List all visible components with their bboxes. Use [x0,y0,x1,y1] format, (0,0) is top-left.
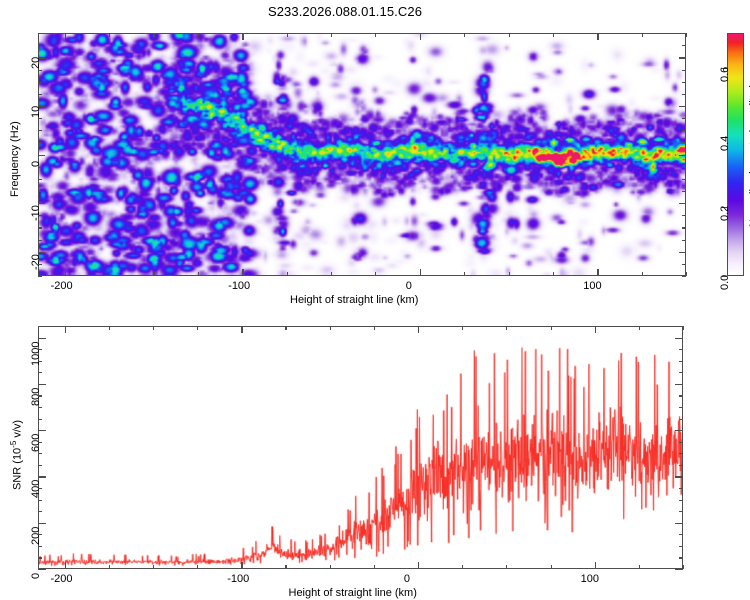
spectrogram-xtick-minor-top [686,33,687,37]
colorbar-tick-label: 0.6 [719,66,731,81]
snr-ytick-minor-right [679,372,683,373]
spectrogram-xtick-label: 0 [406,280,412,292]
spectrogram-ytick-minor [38,130,42,131]
spectrogram-ytick-right [679,106,686,107]
spectrogram-ytick-minor-right [682,215,686,216]
snr-ytick [38,384,46,385]
spectrogram-xtick-minor [331,272,332,276]
spectrogram-ytick-minor-right [682,130,686,131]
spectrogram-ytick-label: -10 [30,205,42,221]
snr-xtick-minor-top [639,326,640,330]
spectrogram-xtick [242,269,243,276]
snr-xtick [595,562,596,569]
spectrogram-xtick-minor-top [642,33,643,37]
snr-panel [38,326,683,569]
colorbar-tick-label: 0.0 [719,275,731,290]
spectrogram-yaxis-label: Frequency (Hz) [9,121,21,197]
snr-ytick-minor-right [679,511,683,512]
snr-xtick-minor [639,565,640,569]
spectrogram-xtick-top [242,33,243,40]
spectrogram-ytick-minor-right [682,94,686,95]
snr-ytick-label: 600 [30,434,42,452]
snr-ytick-minor [38,534,42,535]
spectrogram-ytick-minor-right [682,179,686,180]
spectrogram-ytick-minor-right [682,70,686,71]
spectrogram-xtick-minor [553,272,554,276]
snr-ytick-minor-right [679,442,683,443]
spectrogram-xtick-minor [642,272,643,276]
snr-ytick-minor [38,546,42,547]
spectrogram-ytick-right [679,155,686,156]
snr-yaxis-label-exponent: -5 [9,440,18,447]
spectrogram-xtick-minor [464,272,465,276]
spectrogram-ytick-minor [38,264,42,265]
snr-ytick-minor-right [679,361,683,362]
snr-xtick-top [241,326,242,333]
spectrogram-xtick-minor [375,272,376,276]
spectrogram-ytick-minor [38,276,42,277]
snr-xtick-label: 100 [581,573,599,585]
snr-xtick-minor [506,565,507,569]
spectrogram-ytick-minor-right [682,118,686,119]
spectrogram-ytick-minor-right [682,167,686,168]
snr-trace [39,327,682,568]
spectrogram-ytick-minor-right [682,142,686,143]
snr-ytick-right [675,523,683,524]
spectrogram-ytick-minor [38,142,42,143]
spectrogram-xtick-top [597,33,598,40]
spectrogram-xtick-label: -100 [228,280,250,292]
spectrogram-panel [38,33,686,276]
snr-ytick-minor [38,361,42,362]
snr-ytick-right [675,384,683,385]
snr-xtick-minor [109,565,110,569]
spectrogram-ytick-minor [38,33,42,34]
snr-xtick-minor [683,565,684,569]
snr-ytick-right [675,569,683,570]
colorbar-tick-label: 0.4 [719,136,731,151]
spectrogram-xtick-minor-top [375,33,376,37]
spectrogram-ytick-minor [38,82,42,83]
spectrogram-ytick-minor [38,191,42,192]
snr-xtick [241,562,242,569]
spectrogram-ytick-minor-right [682,240,686,241]
spectrogram-ytick-minor [38,240,42,241]
spectrogram-ytick-right [679,252,686,253]
spectrogram-xaxis-label: Height of straight line (km) [290,294,418,306]
snr-xtick-minor [285,565,286,569]
spectrogram-xtick-top [65,33,66,40]
spectrogram-xtick-minor [509,272,510,276]
spectrogram-xtick-top [420,33,421,40]
spectrogram-ytick-minor-right [682,227,686,228]
spectrogram-xtick-label: 100 [583,280,601,292]
snr-xtick-minor [551,565,552,569]
snr-xtick-minor [153,565,154,569]
snr-xtick-minor-top [197,326,198,330]
snr-xtick-minor [374,565,375,569]
snr-ytick-minor [38,453,42,454]
spectrogram-ytick-label: 20 [30,57,42,69]
snr-ytick-minor [38,442,42,443]
snr-xtick-minor [462,565,463,569]
snr-xaxis-label: Height of straight line (km) [289,587,417,599]
snr-xtick-top [595,326,596,333]
snr-ytick-minor-right [679,488,683,489]
snr-ytick-minor [38,326,42,327]
snr-yaxis-label-suffix: v/v) [12,419,24,440]
snr-ytick-minor-right [679,557,683,558]
spectrogram-xtick-minor [153,272,154,276]
spectrogram-xtick-minor-top [198,33,199,37]
snr-ytick-minor-right [679,546,683,547]
snr-ytick [38,523,46,524]
snr-ytick-minor [38,557,42,558]
spectrogram-xtick-minor [287,272,288,276]
spectrogram-ytick-label: -20 [30,254,42,270]
spectrogram-ytick-minor-right [682,264,686,265]
spectrogram-xtick-label: -200 [51,280,73,292]
snr-ytick-minor [38,465,42,466]
spectrogram-ytick-minor [38,118,42,119]
spectrogram-xtick [420,269,421,276]
snr-xtick-minor-top [330,326,331,330]
snr-xtick-minor [197,565,198,569]
spectrogram-ytick-minor [38,167,42,168]
spectrogram-xtick-minor [109,272,110,276]
snr-xtick-top [65,326,66,333]
snr-ytick [38,569,46,570]
spectrogram-ytick-right [679,57,686,58]
snr-ytick-minor-right [679,349,683,350]
snr-xtick-minor-top [551,326,552,330]
snr-ytick-minor [38,395,42,396]
snr-xtick-minor-top [374,326,375,330]
spectrogram-xtick-minor-top [331,33,332,37]
spectrogram-xtick-minor-top [287,33,288,37]
snr-yaxis-label: SNR (10-5 v/v) [9,419,24,489]
snr-ytick-minor-right [679,326,683,327]
snr-ytick-minor [38,511,42,512]
snr-ytick-minor-right [679,465,683,466]
snr-ytick [38,476,46,477]
snr-xtick-label: 0 [404,573,410,585]
snr-ytick-right [675,430,683,431]
snr-yaxis-label-prefix: SNR (10 [12,447,24,489]
spectrogram-ytick-right [679,203,686,204]
spectrogram-ytick-label: 0 [30,160,42,166]
spectrogram-image [39,34,685,275]
spectrogram-ytick-label: 10 [30,106,42,118]
snr-xtick [65,562,66,569]
snr-ytick-minor [38,372,42,373]
snr-ytick [38,430,46,431]
spectrogram-ytick-minor [38,45,42,46]
figure-title: S233.2026.088.01.15.C26 [0,4,690,19]
snr-ytick-label: 1000 [30,341,42,365]
snr-ytick-minor [38,500,42,501]
spectrogram-xtick [65,269,66,276]
spectrogram-ytick-minor-right [682,82,686,83]
spectrogram-ytick-minor [38,179,42,180]
snr-xtick-label: -100 [227,573,249,585]
snr-xtick-minor-top [285,326,286,330]
snr-ytick-minor [38,488,42,489]
spectrogram-xtick [597,269,598,276]
snr-ytick-label: 0 [30,573,42,579]
colorbar-tick-label: 0.2 [719,205,731,220]
snr-ytick-minor [38,419,42,420]
spectrogram-xtick-minor-top [153,33,154,37]
snr-ytick-right [675,338,683,339]
snr-ytick-minor-right [679,453,683,454]
spectrogram-ytick-minor-right [682,33,686,34]
snr-ytick-label: 400 [30,480,42,498]
snr-xtick-minor-top [506,326,507,330]
snr-ytick-minor-right [679,395,683,396]
spectrogram-ytick-minor-right [682,276,686,277]
spectrogram-ytick-minor [38,227,42,228]
spectrogram-ytick [38,155,45,156]
snr-xtick-minor-top [153,326,154,330]
snr-xtick-top [418,326,419,333]
snr-ytick-right [675,476,683,477]
spectrogram-xtick-minor-top [509,33,510,37]
snr-ytick [38,338,46,339]
snr-ytick-minor-right [679,419,683,420]
snr-xtick-minor-top [109,326,110,330]
snr-xtick-label: -200 [51,573,73,585]
spectrogram-ytick-minor-right [682,45,686,46]
spectrogram-ytick-minor-right [682,191,686,192]
snr-ytick-label: 200 [30,526,42,544]
spectrogram-ytick-minor [38,70,42,71]
snr-ytick-minor-right [679,407,683,408]
spectrogram-ytick-minor [38,215,42,216]
snr-xtick-minor-top [683,326,684,330]
spectrogram-xtick-minor-top [553,33,554,37]
snr-ytick-minor-right [679,500,683,501]
spectrogram-ytick [38,252,45,253]
spectrogram-xtick-minor [686,272,687,276]
snr-ytick-minor-right [679,534,683,535]
snr-xtick-minor [330,565,331,569]
spectrogram-xtick-minor-top [109,33,110,37]
spectrogram-ytick-minor [38,94,42,95]
figure-root: S233.2026.088.01.15.C26 -200-1000100-20-… [0,0,750,600]
snr-xtick [418,562,419,569]
snr-xtick-minor-top [462,326,463,330]
snr-ytick-minor [38,407,42,408]
spectrogram-xtick-minor [198,272,199,276]
snr-ytick-minor [38,349,42,350]
snr-ytick-label: 800 [30,387,42,405]
spectrogram-xtick-minor-top [464,33,465,37]
